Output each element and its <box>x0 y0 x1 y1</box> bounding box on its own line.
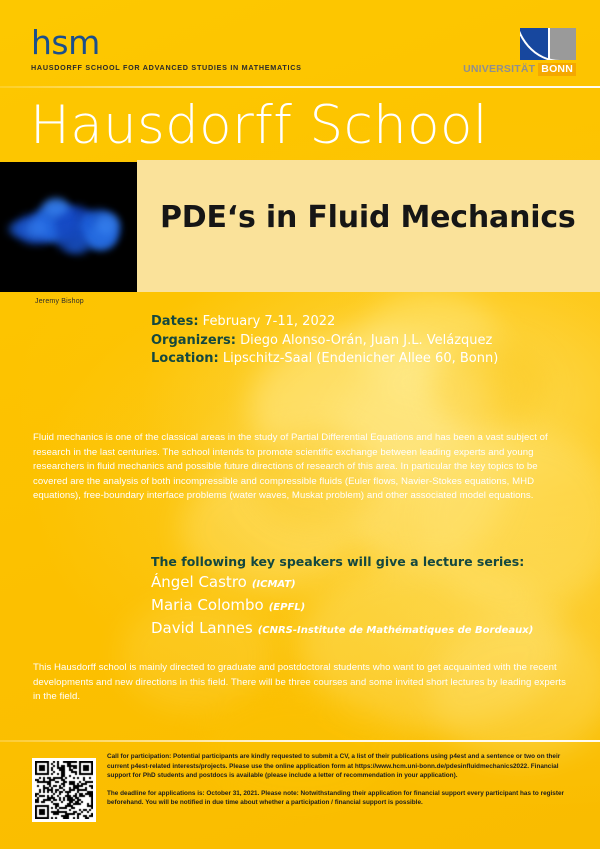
event-details: Dates: February 7-11, 2022 Organizers: D… <box>151 313 498 369</box>
detail-value-dates: February 7-11, 2022 <box>203 314 336 329</box>
detail-label-location: Location: <box>151 351 219 366</box>
speaker-affiliation: (CNRS-Institute de Mathématiques de Bord… <box>258 625 534 636</box>
header-divider <box>0 86 600 88</box>
speakers-heading: The following key speakers will give a l… <box>151 554 533 569</box>
poster-header: hsm HAUSDORFF SCHOOL FOR ADVANCED STUDIE… <box>0 0 600 88</box>
detail-label-dates: Dates: <box>151 314 199 329</box>
speaker-item: Ángel Castro(ICMAT) <box>151 572 533 595</box>
speaker-name: Ángel Castro <box>151 573 247 591</box>
speaker-affiliation: (ICMAT) <box>252 579 296 590</box>
footer-divider <box>0 740 600 742</box>
speaker-name: David Lannes <box>151 619 253 637</box>
speaker-name: Maria Colombo <box>151 596 264 614</box>
speaker-item: David Lannes(CNRS-Institute de Mathémati… <box>151 618 533 641</box>
hsm-logo-fullname: HAUSDORFF SCHOOL FOR ADVANCED STUDIES IN… <box>31 63 302 72</box>
detail-row-location: Location: Lipschitz-Saal (Endenicher All… <box>151 350 498 369</box>
detail-row-dates: Dates: February 7-11, 2022 <box>151 313 498 332</box>
deadline-note-text: The deadline for applications is: Octobe… <box>107 789 577 808</box>
qr-code-canvas <box>35 761 93 819</box>
hsm-logo: hsm HAUSDORFF SCHOOL FOR ADVANCED STUDIE… <box>31 26 302 72</box>
university-name-secondary: BONN <box>538 63 576 76</box>
audience-paragraph: This Hausdorff school is mainly directed… <box>33 661 573 705</box>
speakers-section: The following key speakers will give a l… <box>151 554 533 641</box>
cover-photo <box>0 162 137 292</box>
footer-text: Call for participation: Potential partic… <box>107 752 577 808</box>
page-subtitle: PDE‘s in Fluid Mechanics <box>160 200 590 236</box>
university-bonn-logo: UNIVERSITÄT BONN <box>456 28 576 76</box>
detail-value-organizers: Diego Alonso-Orán, Juan J.L. Velázquez <box>240 333 492 348</box>
description-paragraph: Fluid mechanics is one of the classical … <box>33 431 573 504</box>
page-title: Hausdorff School <box>30 96 488 156</box>
photo-credit: Jeremy Bishop <box>35 298 84 305</box>
university-name-primary: UNIVERSITÄT <box>463 63 535 76</box>
detail-row-organizers: Organizers: Diego Alonso-Orán, Juan J.L.… <box>151 332 498 351</box>
qr-code-icon[interactable] <box>32 758 96 822</box>
university-wordmark: UNIVERSITÄT BONN <box>456 63 576 76</box>
speaker-affiliation: (EPFL) <box>269 602 306 613</box>
hsm-logo-acronym: hsm <box>31 26 302 59</box>
call-for-participation-text: Call for participation: Potential partic… <box>107 752 577 781</box>
detail-value-location: Lipschitz-Saal (Endenicher Allee 60, Bon… <box>223 351 498 366</box>
poster-root: hsm HAUSDORFF SCHOOL FOR ADVANCED STUDIE… <box>0 0 600 849</box>
detail-label-organizers: Organizers: <box>151 333 236 348</box>
university-crest-icon <box>520 28 576 60</box>
speaker-item: Maria Colombo(EPFL) <box>151 595 533 618</box>
